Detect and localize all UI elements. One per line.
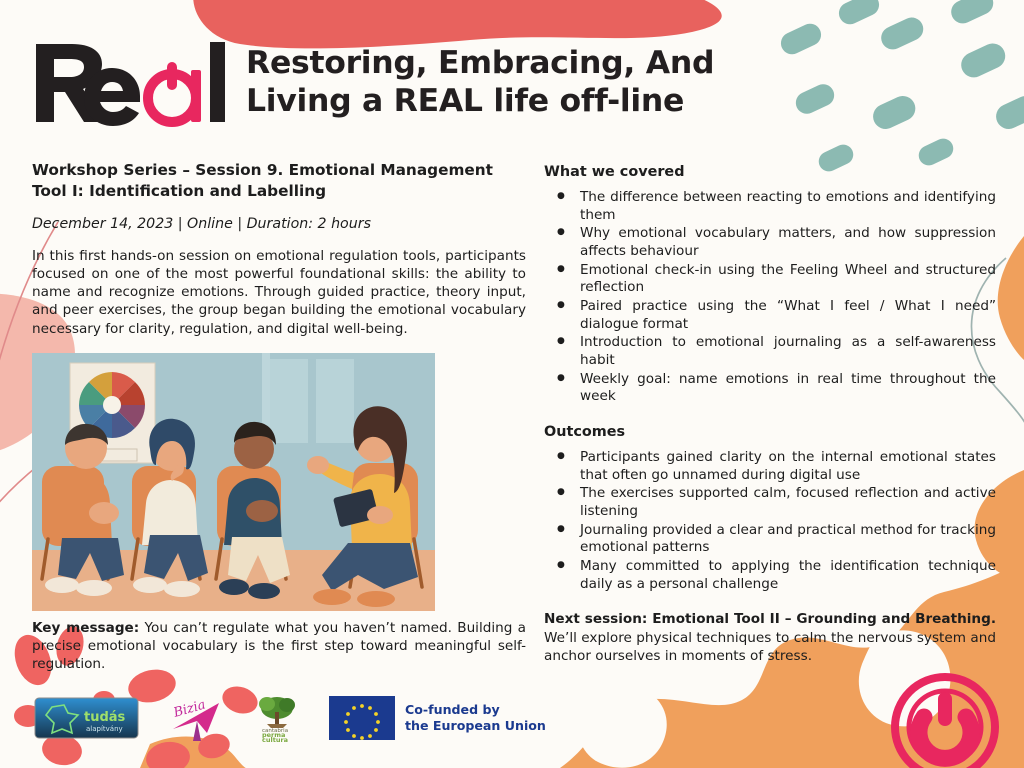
list-item: The difference between reacting to emoti… — [548, 189, 996, 224]
outcomes-heading: Outcomes — [544, 424, 996, 440]
cantabria-permacultura-logo: cantabria perma cultura — [249, 694, 305, 742]
alapitvany-text: alapítvány — [86, 725, 123, 733]
left-column: Workshop Series – Session 9. Emotional M… — [32, 160, 526, 673]
outcomes-list: Participants gained clarity on the inter… — [548, 449, 996, 593]
covered-heading: What we covered — [544, 164, 996, 180]
footer-logos: tudás alapítvány Bizia cantabria perma c… — [34, 694, 546, 742]
list-item: Paired practice using the “What I feel /… — [548, 298, 996, 333]
bizia-logo: Bizia — [161, 695, 233, 741]
list-item: Emotional check-in using the Feeling Whe… — [548, 262, 996, 297]
page-title: Restoring, Embracing, And Living a REAL … — [246, 45, 714, 121]
list-item: Introduction to emotional journaling as … — [548, 334, 996, 369]
session-title: Workshop Series – Session 9. Emotional M… — [32, 160, 526, 202]
list-item: Journaling provided a clear and practica… — [548, 522, 996, 557]
logo-power-a-icon — [148, 62, 201, 122]
key-message-label: Key message: — [32, 620, 139, 636]
next-session: Next session: Emotional Tool II – Ground… — [544, 610, 996, 664]
covered-list: The difference between reacting to emoti… — [548, 189, 996, 406]
poster-page: Restoring, Embracing, And Living a REAL … — [0, 0, 1024, 768]
list-item: Participants gained clarity on the inter… — [548, 449, 996, 484]
logo-letter-l — [210, 42, 225, 122]
next-session-body: We’ll explore physical techniques to cal… — [544, 630, 996, 664]
eu-cofunding-logo: Co-funded by the European Union — [329, 696, 546, 740]
list-item: Why emotional vocabulary matters, and ho… — [548, 225, 996, 260]
teal-dash-cluster — [777, 0, 1024, 175]
tudas-text: tudás — [84, 710, 126, 725]
eu-cofunding-text: Co-funded by the European Union — [405, 702, 546, 734]
cultura-text: cultura — [262, 736, 288, 742]
tudas-alapitvany-logo: tudás alapítvány — [34, 697, 139, 739]
session-photo — [32, 353, 435, 611]
logo-letter-e — [84, 68, 140, 126]
list-item: Weekly goal: name emotions in real time … — [548, 371, 996, 406]
section-gap — [544, 407, 996, 424]
intro-paragraph: In this first hands-on session on emotio… — [32, 247, 526, 337]
eu-flag-icon — [329, 696, 395, 740]
next-session-label: Next session: Emotional Tool II – Ground… — [544, 611, 996, 627]
list-item: Many committed to applying the identific… — [548, 558, 996, 593]
real-logo — [32, 34, 228, 130]
list-item: The exercises supported calm, focused re… — [548, 485, 996, 520]
key-message: Key message: You can’t regulate what you… — [32, 619, 526, 673]
right-column: What we covered The difference between r… — [544, 164, 996, 665]
session-meta: December 14, 2023 | Online | Duration: 2… — [32, 216, 526, 232]
poster-header: Restoring, Embracing, And Living a REAL … — [32, 34, 714, 130]
